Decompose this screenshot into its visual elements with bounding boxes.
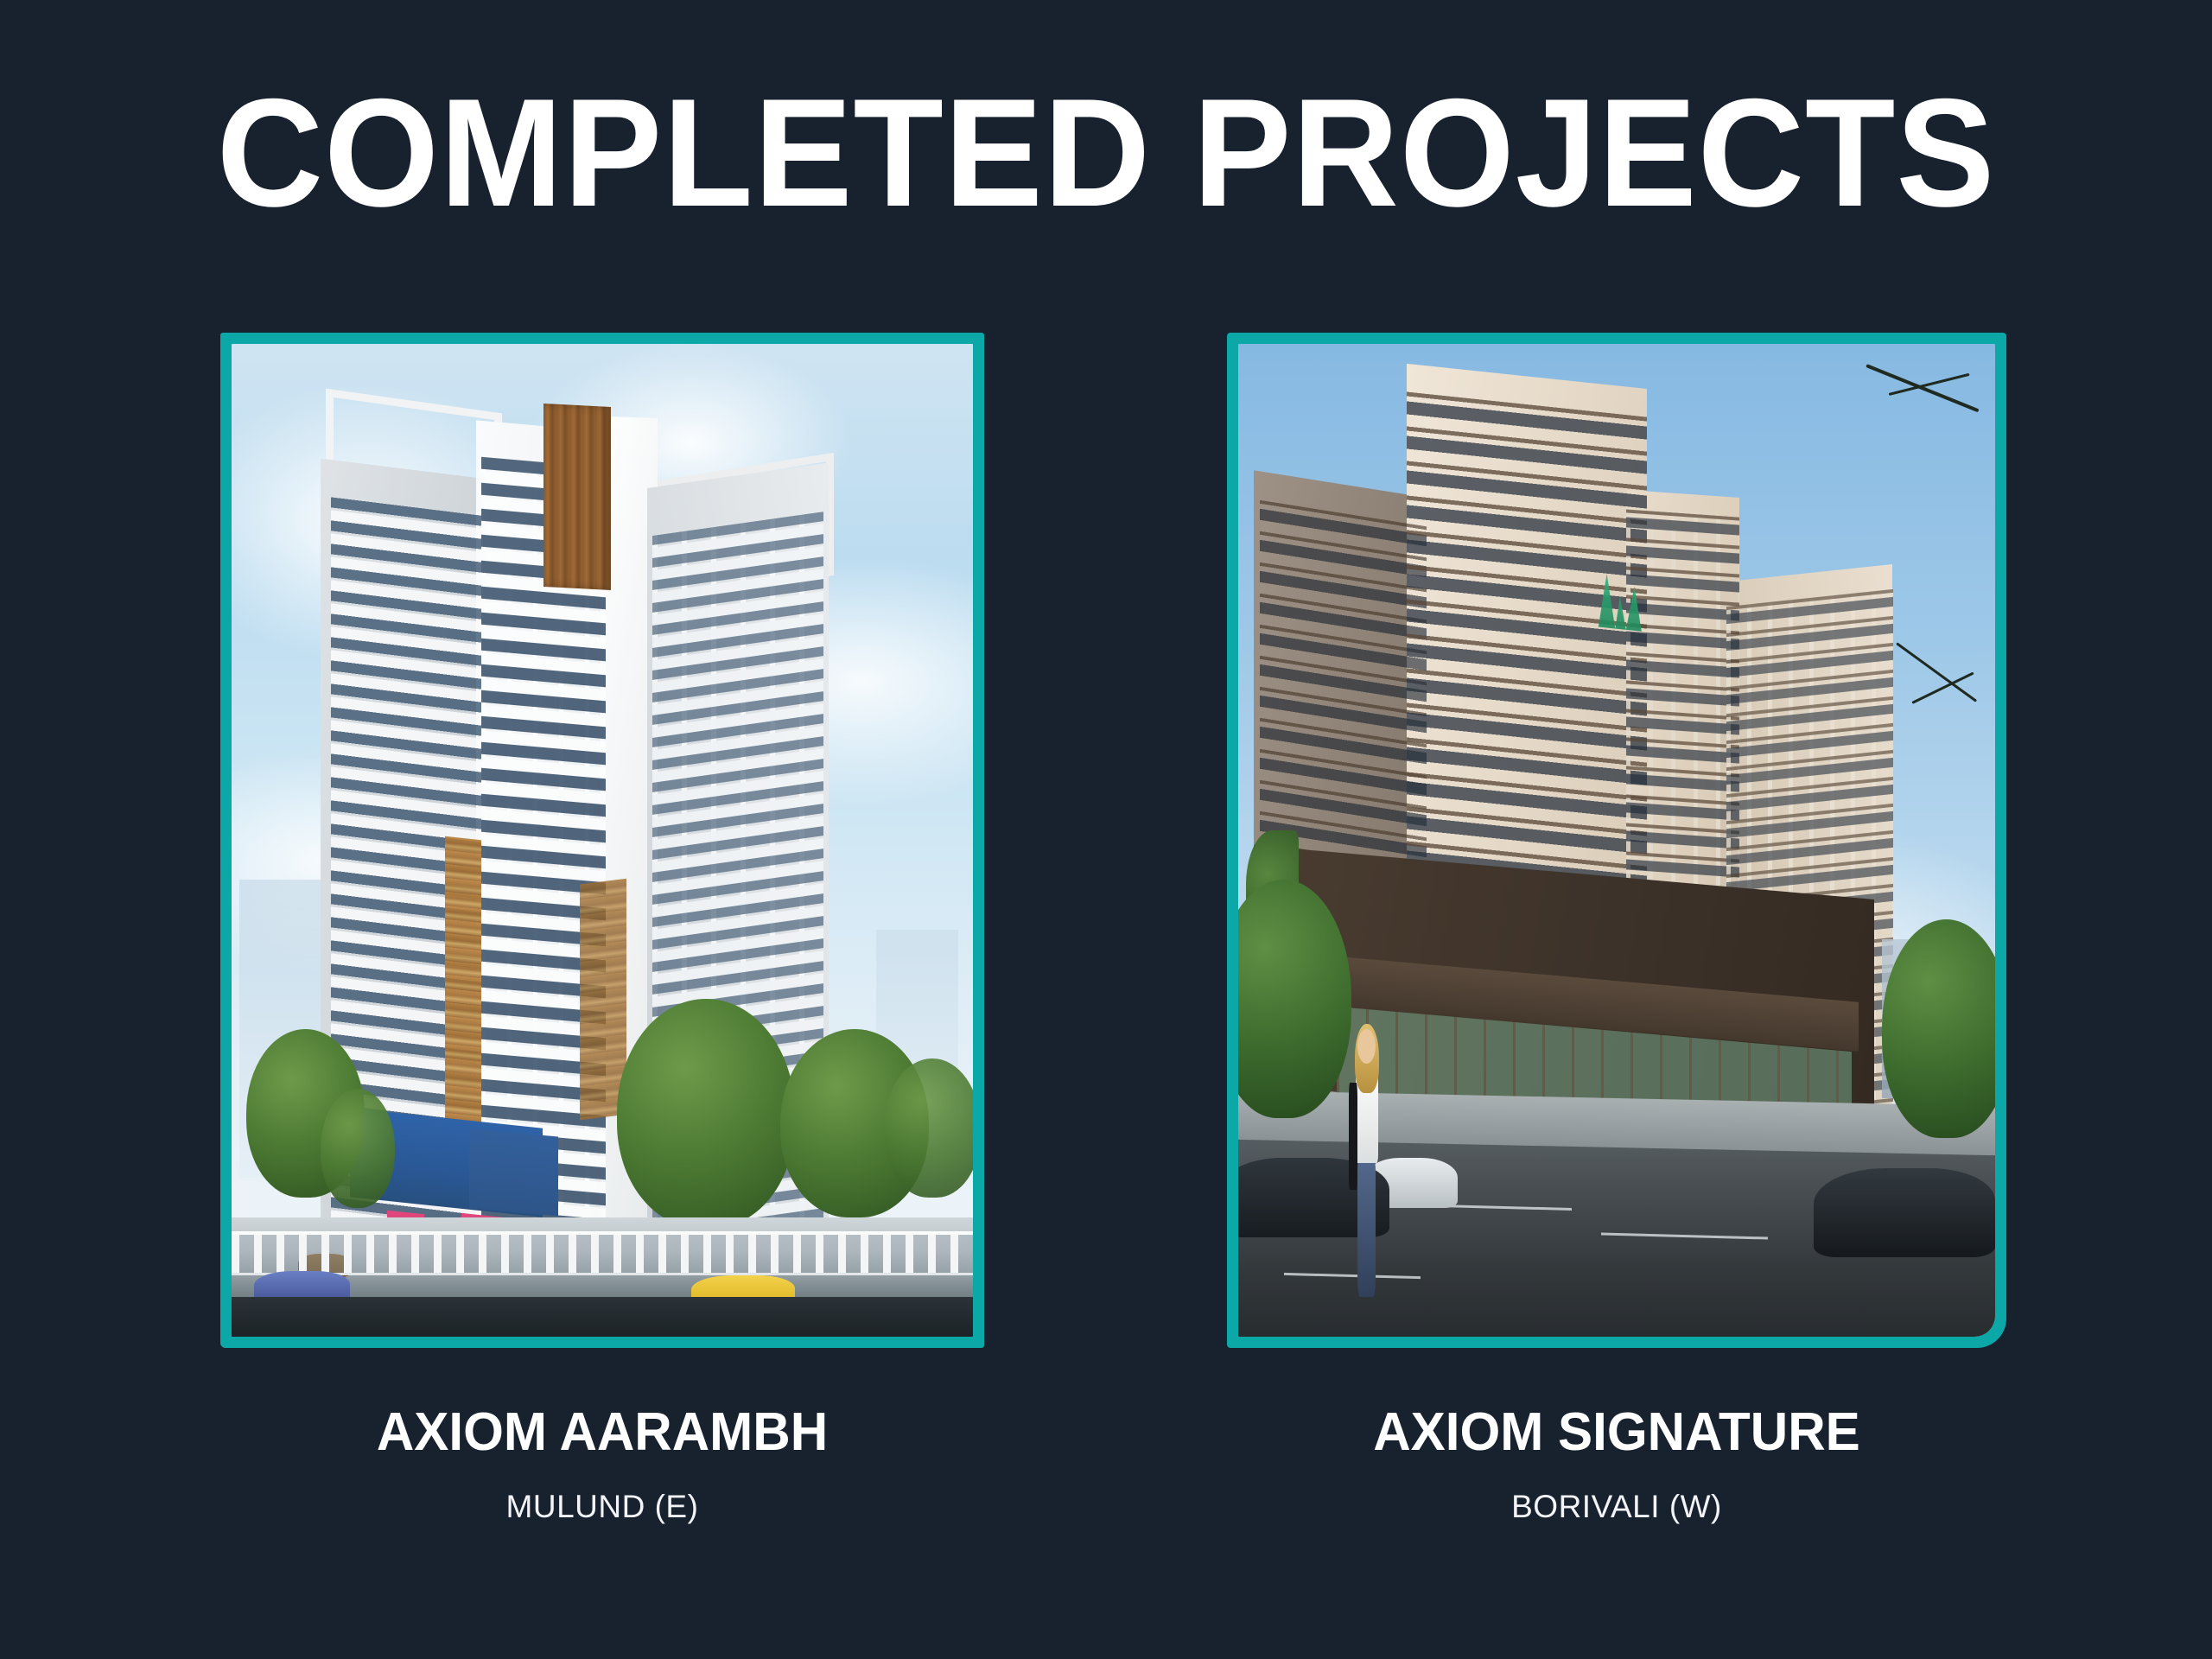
project-photo-1 [232,344,973,1337]
project-image-frame-2 [1227,333,2006,1348]
project-card-1[interactable]: AXIOM AARAMBH MULUND (E) [220,333,984,1525]
pedestrian-icon [1348,1029,1386,1297]
ground-floor-glass-icon [469,1129,558,1217]
pedestrian-legs-icon [1357,1160,1376,1297]
page-title: COMPLETED PROJECTS [44,76,2168,230]
project-caption-1: AXIOM AARAMBH MULUND (E) [220,1402,984,1525]
project-caption-2: AXIOM SIGNATURE BORIVALI (W) [1227,1402,2006,1525]
project-location: MULUND (E) [220,1489,984,1525]
project-photo-2 [1238,344,1995,1337]
project-name: AXIOM SIGNATURE [1239,1402,1995,1463]
handbag-icon [1349,1083,1357,1190]
completed-projects-slide: COMPLETED PROJECTS [0,0,2212,1659]
road-icon [232,1297,973,1337]
boundary-fence-icon [232,1231,973,1275]
wood-panel-icon [445,836,481,1128]
project-name: AXIOM AARAMBH [232,1402,972,1463]
project-card-2[interactable]: AXIOM SIGNATURE BORIVALI (W) [1227,333,2006,1525]
tree-icon [617,999,795,1227]
car-icon [1814,1168,1995,1257]
tree-icon [884,1058,973,1198]
project-image-frame-1 [220,333,984,1348]
wood-panel-icon [543,404,611,590]
project-location: BORIVALI (W) [1227,1489,2006,1525]
tree-icon [321,1089,395,1208]
